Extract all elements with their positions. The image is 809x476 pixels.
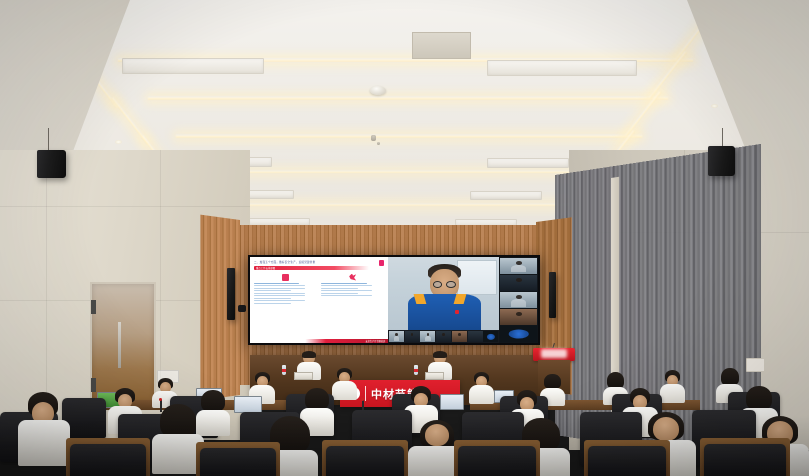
linear-diffuser-panel xyxy=(122,58,264,74)
video-thumbnail-strip-bottom xyxy=(388,330,499,343)
smoke-detector xyxy=(370,86,386,95)
ceiling-sprinkler xyxy=(371,135,376,141)
linear-diffuser-panel xyxy=(487,60,637,76)
led-display-wall: 二、加强五个方面，做好安全生产，迎接党建并重 重点工作安排部署 xyxy=(248,255,540,345)
linear-diffuser-panel xyxy=(487,158,569,168)
column-speaker-left xyxy=(227,268,235,320)
cove-light-band-4 xyxy=(203,170,617,174)
wall-speaker-right xyxy=(708,146,735,176)
cove-light-band-2 xyxy=(148,96,668,101)
audience-member xyxy=(18,392,70,462)
chart-up-icon xyxy=(349,274,356,281)
slide-logo-icon xyxy=(379,260,384,266)
slide-column-left xyxy=(254,274,317,306)
wall-speaker-left xyxy=(37,150,66,178)
conference-chair-front xyxy=(200,448,276,476)
participant-thumb-9[interactable] xyxy=(436,331,451,342)
display-content: 二、加强五个方面，做好安全生产，迎接党建并重 重点工作安排部署 xyxy=(250,257,538,343)
light-switch-plate[interactable] xyxy=(746,358,765,372)
desk-microphone-head xyxy=(159,398,162,401)
factory-icon xyxy=(282,274,289,281)
video-thumbnail-strip-side xyxy=(499,257,538,343)
slide-text-lines-right xyxy=(321,283,384,297)
podium-highlight xyxy=(541,349,567,358)
participant-thumb-5[interactable] xyxy=(500,326,537,342)
participant-thumb-4[interactable] xyxy=(500,309,537,325)
slide-title: 二、加强五个方面，做好安全生产，迎接党建并重 xyxy=(254,260,315,264)
meeting-room-door[interactable] xyxy=(90,282,156,404)
door-hinge xyxy=(91,300,96,314)
audience-member xyxy=(469,372,494,402)
audience-member xyxy=(332,368,357,398)
background-window xyxy=(457,260,497,296)
speaker-mount-rod xyxy=(48,128,49,150)
participant-thumb-2[interactable] xyxy=(500,275,537,291)
participant-thumb-10[interactable] xyxy=(452,331,467,342)
conference-chair-front xyxy=(588,446,666,476)
conference-room-photo: 二、加强五个方面，做好安全生产，迎接党建并重 重点工作安排部署 xyxy=(0,0,809,476)
cove-light-band-5 xyxy=(228,203,590,207)
water-bottle xyxy=(414,365,418,375)
water-bottle xyxy=(282,365,286,375)
conference-chair-front xyxy=(326,446,404,476)
desk-microphone-head xyxy=(361,398,364,401)
slide-column-right xyxy=(321,274,384,306)
slide-highlight-bar: 重点工作安排部署 xyxy=(254,266,369,270)
ceiling-sprinkler xyxy=(377,142,380,145)
conference-chair-front xyxy=(70,444,146,476)
door-handle[interactable] xyxy=(118,322,121,368)
slide-text-lines-left xyxy=(254,283,317,304)
participant-thumb-1[interactable] xyxy=(500,258,537,274)
video-main-speaker-tile[interactable] xyxy=(388,257,499,330)
slide-highlight-text: 重点工作安排部署 xyxy=(256,266,275,270)
speaker-glasses-right xyxy=(446,281,456,288)
participant-thumb-11[interactable] xyxy=(468,331,483,342)
presentation-slide: 二、加强五个方面，做好安全生产，迎接党建并重 重点工作安排部署 xyxy=(250,257,388,343)
name-plate xyxy=(294,372,313,380)
slide-columns xyxy=(254,274,384,306)
video-conference-panel xyxy=(388,257,538,343)
slide-footer-bar: 安全生产月专题培训 xyxy=(250,339,388,343)
official-hair xyxy=(302,351,316,358)
participant-thumb-6[interactable] xyxy=(389,331,404,342)
speaker-mount-rod xyxy=(722,128,723,146)
name-plate xyxy=(425,372,444,380)
column-speaker-right xyxy=(549,272,556,318)
audience-laptop[interactable] xyxy=(440,394,464,410)
recessed-downlight xyxy=(115,140,122,144)
door-hinge xyxy=(91,378,96,392)
wall-camera-left xyxy=(238,305,246,312)
recessed-downlight xyxy=(711,104,718,108)
linear-diffuser-panel xyxy=(470,191,542,200)
participant-thumb-3[interactable] xyxy=(500,292,537,308)
cove-light-band-3 xyxy=(176,134,642,139)
video-main-wrap xyxy=(388,257,499,343)
slide-footer-text: 安全生产月专题培训 xyxy=(366,339,386,343)
audience-laptop[interactable] xyxy=(234,396,262,413)
audience-member xyxy=(660,370,685,402)
participant-thumb-8[interactable] xyxy=(420,331,435,342)
conference-chair-front xyxy=(704,444,786,476)
banner-divider xyxy=(365,386,366,401)
uniform-badge xyxy=(455,310,459,314)
official-hair xyxy=(433,351,447,358)
conference-chair-front xyxy=(458,446,536,476)
ceiling-air-vent xyxy=(412,32,471,59)
participant-thumb-12[interactable] xyxy=(483,331,498,342)
participant-thumb-7[interactable] xyxy=(405,331,420,342)
